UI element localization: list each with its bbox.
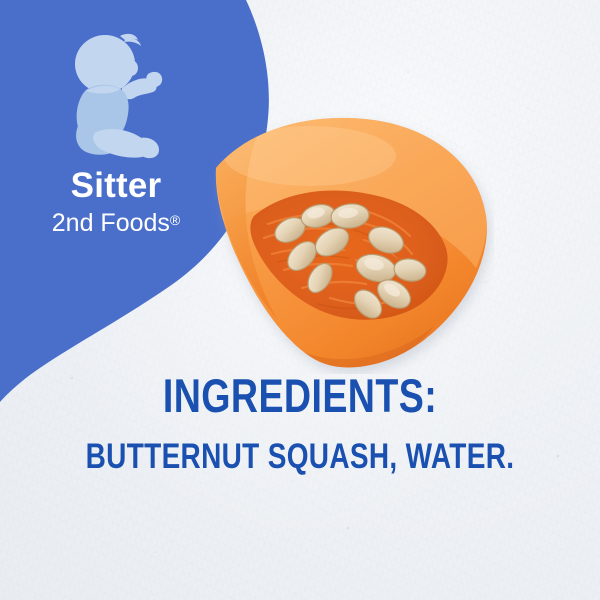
ingredients-block: INGREDIENTS: BUTTERNUT SQUASH, WATER.	[0, 372, 600, 474]
ingredients-list: BUTTERNUT SQUASH, WATER.	[60, 439, 540, 474]
registered-trademark-mark: ®	[170, 212, 180, 228]
ingredients-heading: INGREDIENTS:	[60, 372, 540, 419]
sitting-baby-icon	[64, 28, 168, 160]
butternut-squash-slice-photo	[198, 112, 494, 374]
brand-subtitle-text: 2nd Foods	[52, 209, 170, 237]
product-ingredients-panel: Sitter 2nd Foods®	[0, 0, 600, 600]
